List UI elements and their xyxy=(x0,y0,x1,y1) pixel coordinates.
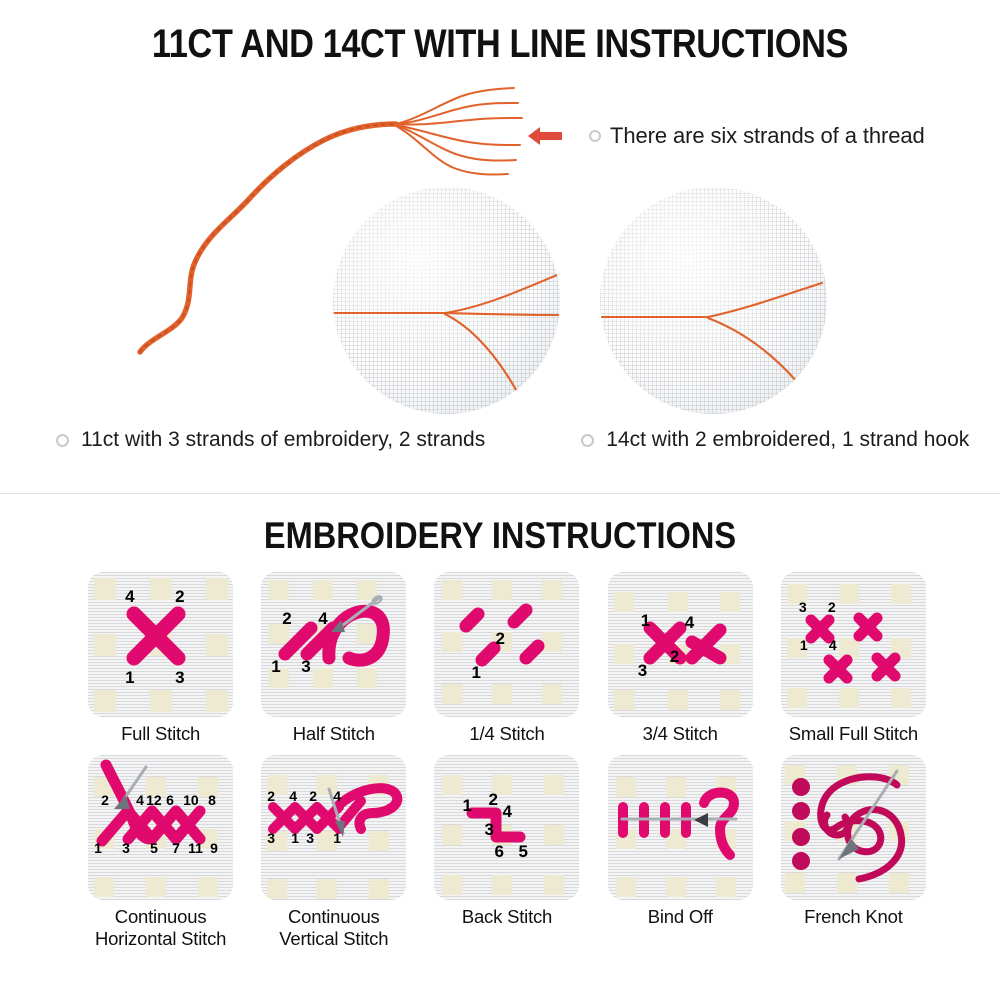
circle-captions-row: 11ct with 3 strands of embroidery, 2 str… xyxy=(0,428,1000,452)
stitch-number: 3 xyxy=(799,600,807,614)
stitch-number: 6 xyxy=(166,793,174,807)
stitch-tile-bind-off xyxy=(608,755,753,900)
stitch-label-three-quarter-stitch: 3/4 Stitch xyxy=(643,723,718,745)
six-strands-note: There are six strands of a thread xyxy=(528,123,925,149)
stitch-cell-bind-off: Bind Off xyxy=(594,755,767,950)
bullet-circle-icon xyxy=(581,434,594,447)
stitch-number: 5 xyxy=(518,843,527,860)
stitch-tile-quarter-stitch: 2 1 xyxy=(434,572,579,717)
stitch-cell-small-full-stitch: 3 2 1 4 Small Full Stitch xyxy=(767,572,940,745)
stitch-number: 3 xyxy=(301,658,310,675)
stitch-number: 3 xyxy=(638,662,647,679)
stitch-number: 8 xyxy=(208,793,216,807)
stitch-cell-full-stitch: 4 2 1 3 Full Stitch xyxy=(74,572,247,745)
arrow-left-icon xyxy=(528,126,562,146)
aida-circle-11ct xyxy=(333,187,560,414)
stitch-tile-small-full-stitch: 3 2 1 4 xyxy=(781,572,926,717)
stitch-number: 1 xyxy=(333,831,341,845)
stitch-cell-french-knot: French Knot xyxy=(767,755,940,950)
stitch-number: 1 xyxy=(125,669,134,686)
six-strands-note-text: There are six strands of a thread xyxy=(610,123,925,149)
stitch-label-continuous-horizontal-stitch: Continuous Horizontal Stitch xyxy=(95,906,226,950)
stitch-number: 1 xyxy=(462,797,471,814)
stitch-label-back-stitch: Back Stitch xyxy=(462,906,552,928)
embroidery-instructions-section: EMBROIDERY INSTRUCTIONS xyxy=(0,494,1000,1000)
stitch-label-half-stitch: Half Stitch xyxy=(293,723,375,745)
label-text: Continuous Horizontal Stitch xyxy=(95,906,226,949)
stitch-cell-three-quarter-stitch: 1 4 2 3 3/4 Stitch xyxy=(594,572,767,745)
stitch-label-bind-off: Bind Off xyxy=(648,906,713,928)
caption-14ct: 14ct with 2 embroidered, 1 strand hook xyxy=(581,428,969,452)
stitch-number: 1 xyxy=(271,658,280,675)
stitch-number: 4 xyxy=(685,614,694,631)
stitch-number: 1 xyxy=(641,612,650,629)
stitch-label-continuous-vertical-stitch: Continuous Vertical Stitch xyxy=(279,906,388,950)
stitch-number: 4 xyxy=(318,610,327,627)
stitch-tile-full-stitch: 4 2 1 3 xyxy=(88,572,233,717)
bullet-circle-icon xyxy=(56,434,69,447)
stitch-cell-half-stitch: 2 4 1 3 Half Stitch xyxy=(247,572,420,745)
section-title: EMBROIDERY INSTRUCTIONS xyxy=(60,515,940,557)
stitch-number: 1 xyxy=(94,841,102,855)
caption-11ct: 11ct with 3 strands of embroidery, 2 str… xyxy=(56,428,485,452)
stitch-label-small-full-stitch: Small Full Stitch xyxy=(789,723,918,745)
stitch-number: 3 xyxy=(175,669,184,686)
stitch-number: 11 xyxy=(188,841,203,855)
stitch-cell-continuous-horizontal-stitch: 2 4 12 6 10 8 1 3 5 7 11 9 Continuous Ho… xyxy=(74,755,247,950)
stitch-tile-three-quarter-stitch: 1 4 2 3 xyxy=(608,572,753,717)
stitch-number: 2 xyxy=(175,588,184,605)
stitch-number: 4 xyxy=(333,789,341,803)
stitch-number: 2 xyxy=(495,630,504,647)
bullet-circle-icon xyxy=(589,130,601,142)
stitch-number: 1 xyxy=(291,831,299,845)
stitch-number: 3 xyxy=(267,831,275,845)
stitch-number: 4 xyxy=(829,638,837,652)
stitch-number: 2 xyxy=(828,600,836,614)
stitch-number: 9 xyxy=(210,841,218,855)
stitch-tile-half-stitch: 2 4 1 3 xyxy=(261,572,406,717)
stitch-number: 4 xyxy=(125,588,134,605)
stitch-number: 2 xyxy=(101,793,109,807)
thread-instructions-section: 11CT AND 14CT WITH LINE INSTRUCTIONS xyxy=(0,0,1000,493)
stitch-number: 2 xyxy=(282,610,291,627)
stitch-label-full-stitch: Full Stitch xyxy=(121,723,200,745)
stitch-tile-continuous-horizontal-stitch: 2 4 12 6 10 8 1 3 5 7 11 9 xyxy=(88,755,233,900)
stitch-number: 1 xyxy=(800,638,808,652)
page-title: 11CT AND 14CT WITH LINE INSTRUCTIONS xyxy=(70,22,930,67)
stitch-number: 6 xyxy=(494,843,503,860)
stitch-number: 12 xyxy=(146,793,162,807)
infographic-page: 11CT AND 14CT WITH LINE INSTRUCTIONS xyxy=(0,0,1000,1000)
stitch-number: 10 xyxy=(183,793,199,807)
stitch-number: 2 xyxy=(670,648,679,665)
stitch-number: 3 xyxy=(484,821,493,838)
stitch-number: 4 xyxy=(136,793,144,807)
stitch-number: 4 xyxy=(289,789,297,803)
stitch-tile-back-stitch: 1 2 4 3 6 5 xyxy=(434,755,579,900)
aida-circle-14ct xyxy=(600,187,827,414)
caption-14ct-text: 14ct with 2 embroidered, 1 strand hook xyxy=(606,428,969,452)
stitch-label-quarter-stitch: 1/4 Stitch xyxy=(469,723,544,745)
stitch-number: 1 xyxy=(471,664,480,681)
stitch-grid: 4 2 1 3 Full Stitch xyxy=(74,572,940,949)
stitch-number: 4 xyxy=(502,803,511,820)
label-text: Continuous Vertical Stitch xyxy=(279,906,388,949)
stitch-number: 3 xyxy=(306,831,314,845)
stitch-number: 2 xyxy=(488,791,497,808)
stitch-label-french-knot: French Knot xyxy=(804,906,903,928)
stitch-tile-french-knot xyxy=(781,755,926,900)
stitch-cell-quarter-stitch: 2 1 1/4 Stitch xyxy=(420,572,593,745)
stitch-cell-continuous-vertical-stitch: 2 4 2 4 3 1 3 1 Continuous Vertical Stit… xyxy=(247,755,420,950)
caption-11ct-text: 11ct with 3 strands of embroidery, 2 str… xyxy=(81,428,485,452)
stitch-number: 3 xyxy=(122,841,130,855)
stitch-number: 2 xyxy=(309,789,317,803)
stitch-cell-back-stitch: 1 2 4 3 6 5 Back Stitch xyxy=(420,755,593,950)
stitch-number: 2 xyxy=(267,789,275,803)
stitch-number: 5 xyxy=(150,841,158,855)
stitch-number: 7 xyxy=(172,841,180,855)
stitch-tile-continuous-vertical-stitch: 2 4 2 4 3 1 3 1 xyxy=(261,755,406,900)
